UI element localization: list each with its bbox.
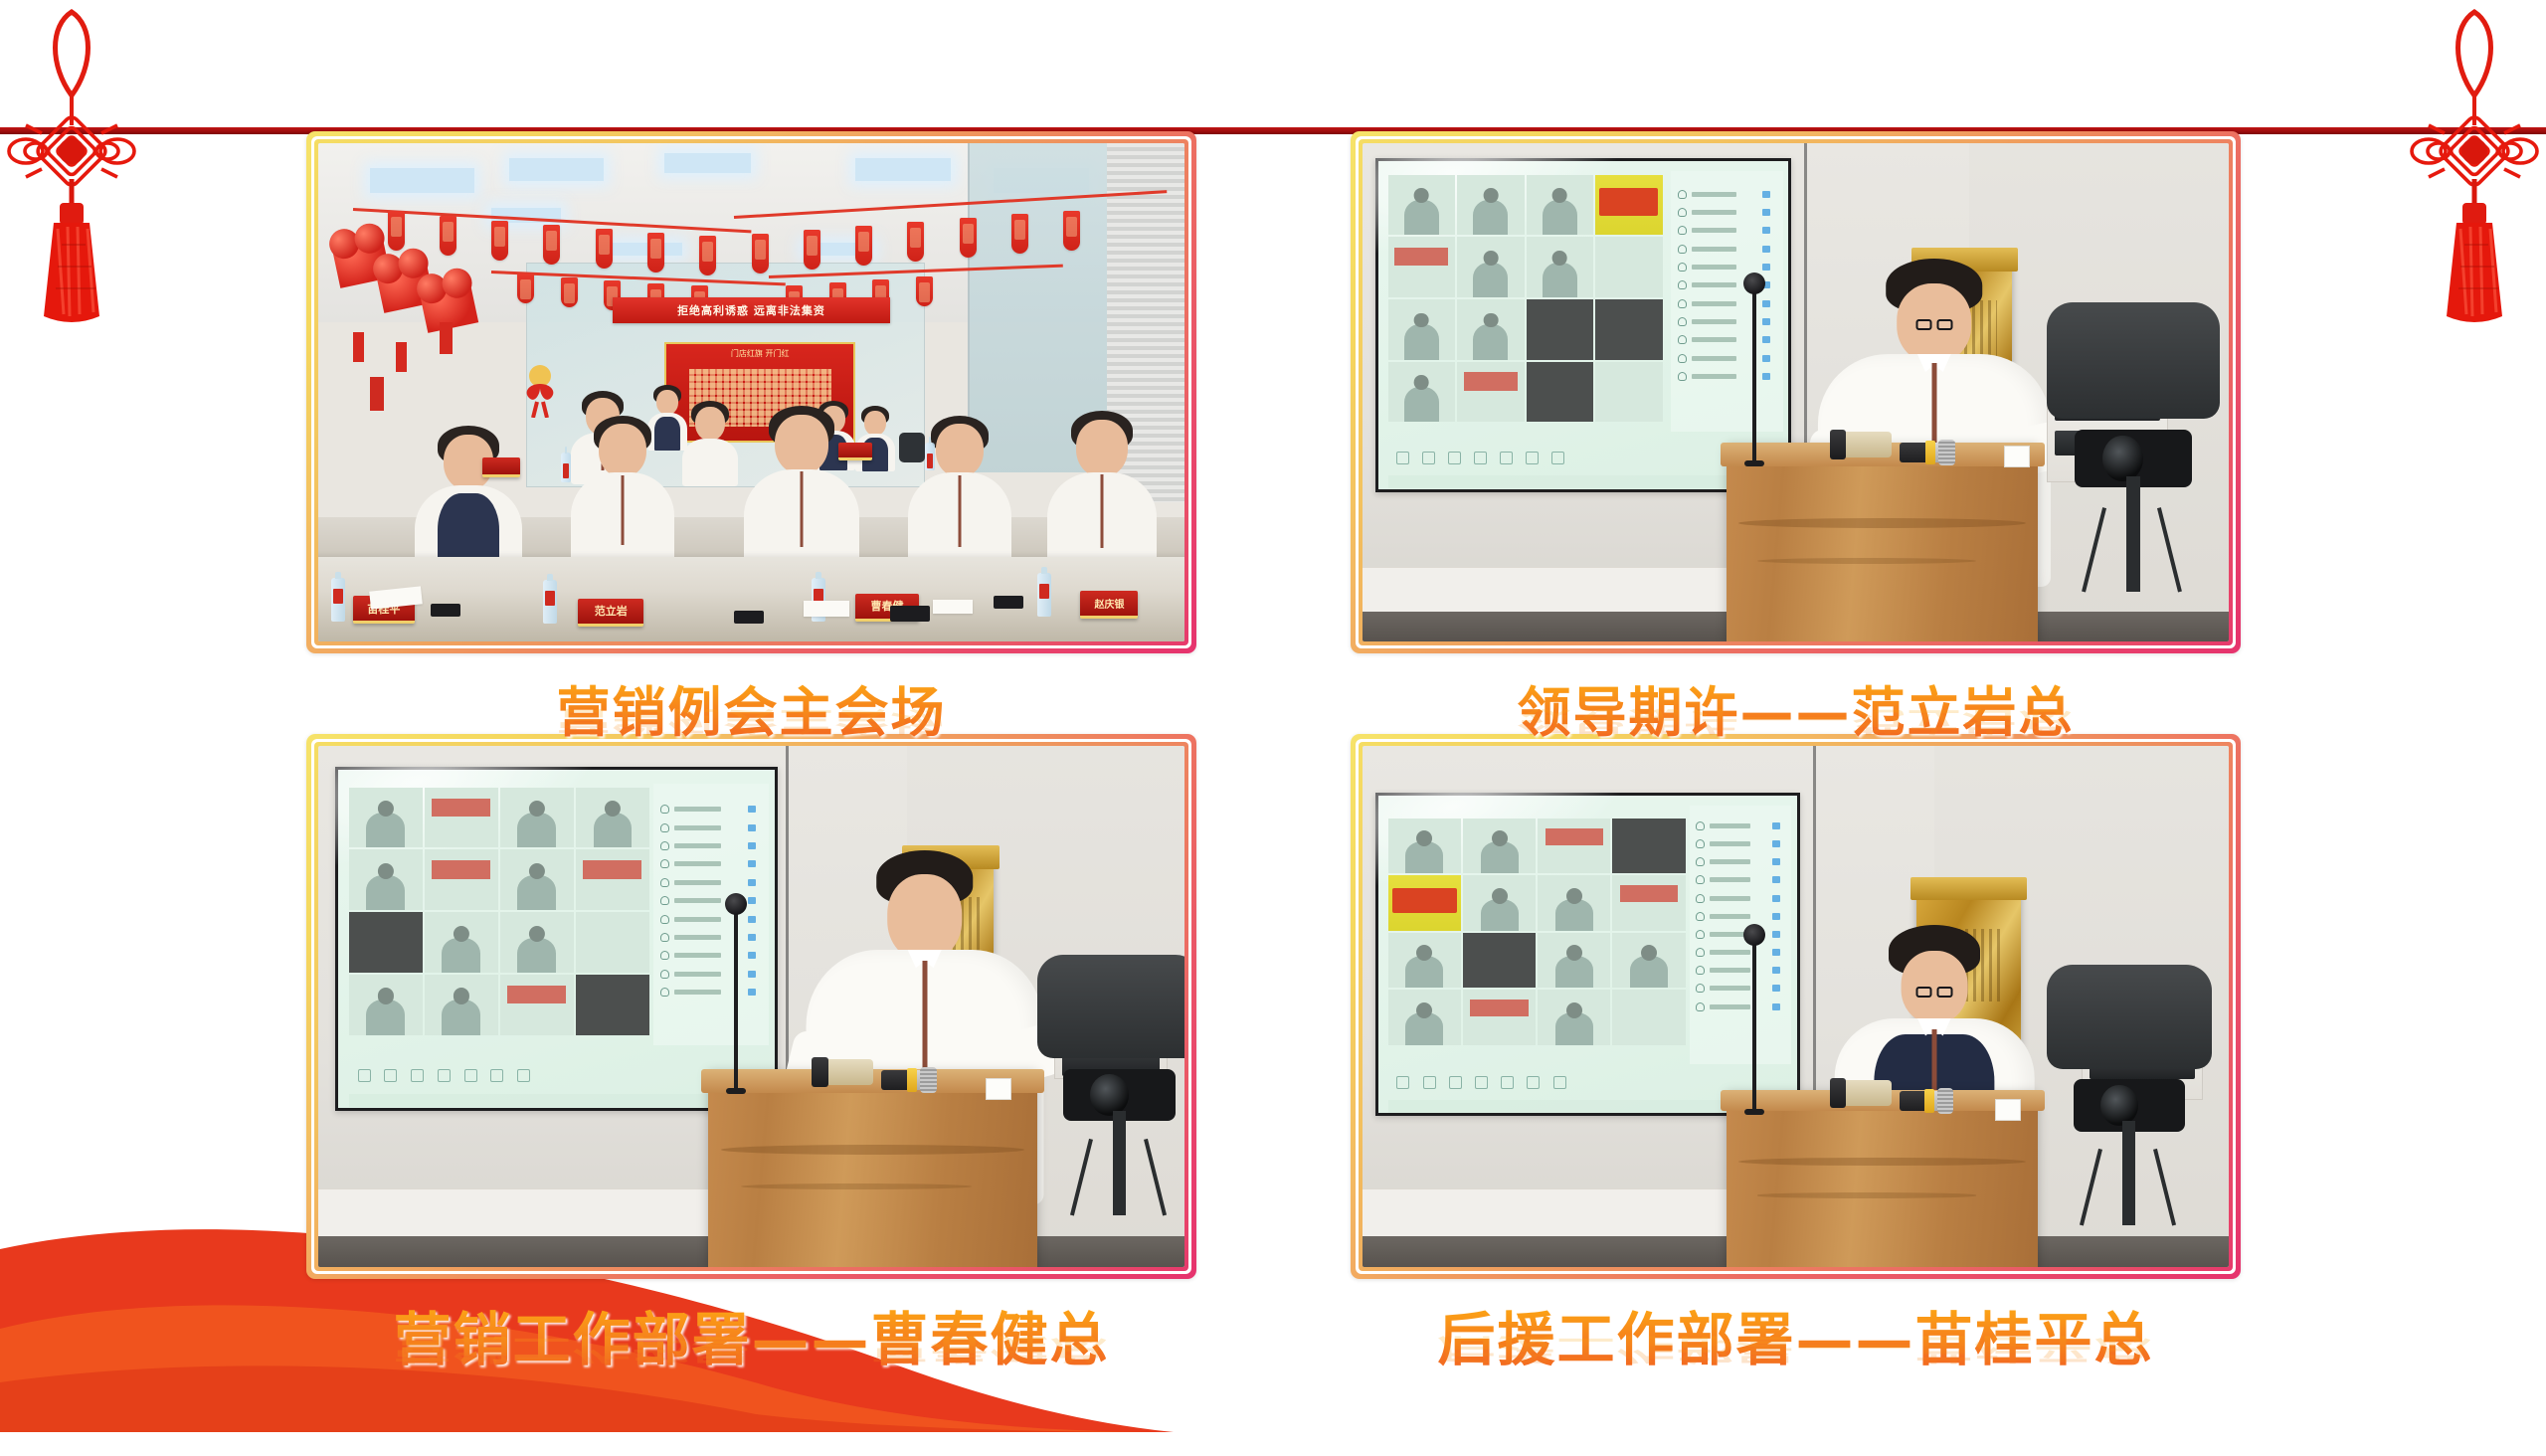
caption-4: 后援工作部署——苗桂平总 后援工作部署——苗桂平总 xyxy=(1351,1293,2241,1456)
desk-microphone xyxy=(734,913,738,1090)
photo-card-2[interactable] xyxy=(1351,131,2241,653)
handheld-microphone xyxy=(1900,1091,1953,1111)
wooden-podium xyxy=(1727,443,2039,641)
ptz-camera xyxy=(2047,965,2211,1225)
name-card-stand xyxy=(2004,446,2030,467)
caption-1-text: 营销例会主会场 xyxy=(557,668,947,747)
caption-2-text: 领导期许——范立岩总 xyxy=(1518,668,2075,747)
thermos-flask xyxy=(1830,432,1892,457)
ptz-camera xyxy=(2047,302,2220,592)
chinese-knot-tassel-right-icon xyxy=(2389,0,2546,328)
name-card-stand xyxy=(1995,1099,2021,1121)
attendee-front-2 xyxy=(570,418,675,573)
attendee-back xyxy=(682,403,738,484)
handheld-microphone xyxy=(881,1070,937,1090)
handheld-microphone xyxy=(1900,443,1955,462)
caption-2: 领导期许——范立岩总 领导期许——范立岩总 xyxy=(1351,668,2241,821)
nameplate-4: 赵庆银 xyxy=(1080,591,1138,619)
thermos-flask xyxy=(1830,1080,1892,1106)
wooden-podium xyxy=(1727,1090,2039,1267)
ptz-camera xyxy=(1037,955,1184,1215)
attendee-front-5 xyxy=(1046,413,1158,576)
photo-image-leader-expectation-speech xyxy=(1363,143,2229,641)
ribbon-bow-decoration-icon xyxy=(517,362,563,418)
attendee-front-3 xyxy=(743,408,860,577)
caption-4-text: 后援工作部署——苗桂平总 xyxy=(1437,1293,2153,1376)
caption-3: 营销工作部署——曹春健总 营销工作部署——曹春健总 xyxy=(306,1293,1196,1456)
caption-1: 营销例会主会场 营销例会主会场 xyxy=(306,668,1196,821)
nameplate-2: 范立岩 xyxy=(578,599,643,627)
name-card-stand xyxy=(986,1078,1011,1100)
photo-image-marketing-meeting-main-venue: 拒绝高利诱惑 远离非法集资 门店红旗 开门红 xyxy=(318,143,1184,641)
attendee-front-4 xyxy=(907,418,1012,575)
thermos-flask xyxy=(812,1059,873,1085)
photo-image-marketing-deployment-speech xyxy=(318,746,1184,1267)
photo-frame-2 xyxy=(1351,131,2241,653)
photo-card-1[interactable]: 拒绝高利诱惑 远离非法集资 门店红旗 开门红 xyxy=(306,131,1196,653)
photo-image-support-deployment-speech xyxy=(1363,746,2229,1267)
anti-fraud-banner: 拒绝高利诱惑 远离非法集资 xyxy=(613,297,890,323)
desk-microphone xyxy=(1752,944,1756,1111)
chinese-knot-tassel-left-icon xyxy=(0,0,157,328)
photo-frame-1: 拒绝高利诱惑 远离非法集资 门店红旗 开门红 xyxy=(306,131,1196,653)
caption-3-text: 营销工作部署——曹春健总 xyxy=(393,1293,1109,1376)
desk-microphone xyxy=(1752,292,1756,461)
